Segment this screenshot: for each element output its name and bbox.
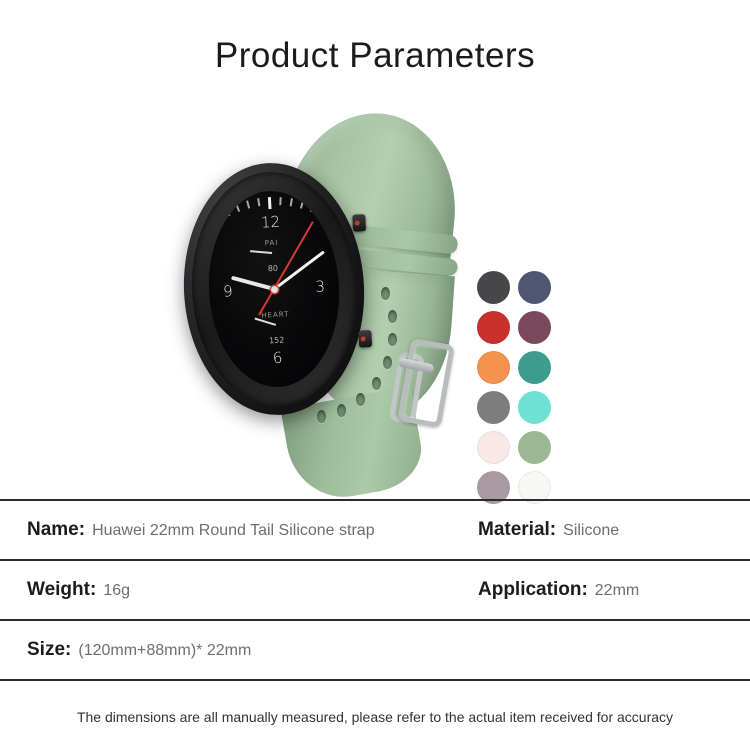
watch-tick-minor: [329, 214, 335, 222]
spec-value-name: Huawei 22mm Round Tail Silicone strap: [92, 522, 375, 540]
divider-bottom: [0, 679, 750, 681]
spec-label-application: Application:: [478, 579, 588, 601]
spec-label-material: Material:: [478, 519, 556, 541]
spec-cell-weight: Weight: 16g: [27, 579, 130, 601]
watch-tick-minor: [337, 221, 343, 228]
subdial-heart-value: 152: [242, 334, 312, 347]
subdial-heart: HEART 152: [240, 309, 312, 347]
watch-bezel: 12 3 6 9 PAI 80 HEART 152: [186, 168, 362, 410]
watch-crown-lower: [358, 330, 372, 348]
watch-numeral-3: 3: [315, 277, 325, 295]
spec-value-application: 22mm: [595, 582, 639, 600]
strap-hole: [388, 333, 397, 346]
strap-hole: [388, 310, 397, 323]
watch-tick-minor: [225, 208, 230, 216]
footer-disclaimer: The dimensions are all manually measured…: [0, 709, 750, 725]
color-swatch-charcoal[interactable]: [477, 271, 510, 304]
color-swatch-gray[interactable]: [477, 391, 510, 424]
color-swatch-mint[interactable]: [518, 391, 551, 424]
color-swatch-pale-pink[interactable]: [477, 431, 510, 464]
strap-hole: [337, 404, 346, 417]
spec-cell-application: Application: 22mm: [478, 579, 639, 601]
page-title: Product Parameters: [0, 36, 750, 76]
spec-row-size: Size: (120mm+88mm)* 22mm: [0, 621, 750, 679]
spec-row-weight: Weight: 16g Application: 22mm: [0, 561, 750, 619]
spec-row-name: Name: Huawei 22mm Round Tail Silicone st…: [0, 501, 750, 559]
watch-tick-minor: [215, 388, 221, 390]
spec-value-material: Silicone: [563, 522, 619, 540]
watch-numeral-9: 9: [223, 282, 233, 300]
watch-tick-minor: [246, 200, 250, 208]
spec-table: Name: Huawei 22mm Round Tail Silicone st…: [0, 499, 750, 681]
spec-cell-name: Name: Huawei 22mm Round Tail Silicone st…: [27, 519, 375, 541]
watch-tick-minor: [279, 197, 281, 205]
color-swatch-plum[interactable]: [518, 311, 551, 344]
watch-tick-major: [268, 197, 271, 209]
spec-label-size: Size:: [27, 639, 71, 661]
watch-tick-minor: [206, 221, 212, 228]
color-swatch-slate-blue[interactable]: [518, 271, 551, 304]
spec-label-name: Name:: [27, 519, 85, 541]
subdial-pai-hand: [250, 250, 272, 254]
color-swatch-orange[interactable]: [477, 351, 510, 384]
watch-tick-minor: [204, 228, 205, 235]
watch-tick-major: [215, 214, 224, 225]
watch-numeral-12: 12: [260, 213, 280, 232]
watch-tick-minor: [206, 382, 212, 389]
hand-pivot: [270, 285, 277, 292]
spec-cell-size: Size: (120mm+88mm)* 22mm: [27, 639, 251, 661]
strap-hole: [381, 287, 390, 300]
spec-cell-material: Material: Silicone: [478, 519, 619, 541]
watch-tick-minor: [300, 200, 304, 208]
watch-tick-minor: [310, 204, 314, 212]
watch-tick-minor: [204, 375, 205, 382]
watch-face: 12 3 6 9 PAI 80 HEART 152: [204, 188, 344, 391]
spec-value-weight: 16g: [103, 582, 130, 600]
watch-tick-marks: [204, 188, 334, 195]
strap-hole: [372, 377, 381, 390]
spec-label-weight: Weight:: [27, 579, 96, 601]
subdial-heart-label: HEART: [240, 309, 310, 321]
watch-crown-upper: [352, 214, 366, 232]
crown-accent-dot: [361, 336, 366, 341]
watch-tick-minor: [235, 204, 239, 212]
strap-hole: [356, 393, 365, 406]
strap-hole: [383, 356, 392, 369]
strap-hole: [317, 410, 326, 423]
hour-hand: [231, 276, 275, 291]
color-swatch-grid: [477, 271, 557, 504]
color-swatch-red[interactable]: [477, 311, 510, 344]
watch-tick-major: [317, 208, 325, 220]
watch-tick-minor: [257, 198, 260, 206]
watch-numeral-6: 6: [272, 349, 282, 367]
spec-value-size: (120mm+88mm)* 22mm: [78, 642, 251, 660]
crown-accent-dot: [355, 220, 360, 225]
product-image: 12 3 6 9 PAI 80 HEART 152: [0, 105, 750, 495]
color-swatch-teal[interactable]: [518, 351, 551, 384]
watch-tick-minor: [290, 198, 293, 206]
color-swatch-sage-green[interactable]: [518, 431, 551, 464]
